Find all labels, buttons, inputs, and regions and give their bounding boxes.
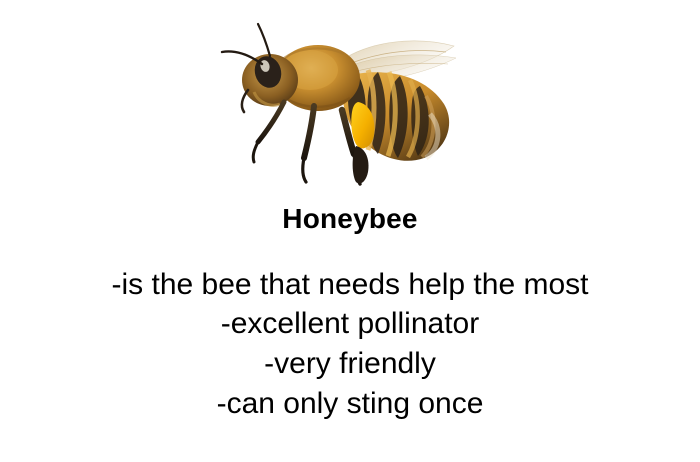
- list-item: -very friendly: [0, 344, 700, 384]
- honeybee-photo: [218, 18, 476, 196]
- list-item: -is the bee that needs help the most: [0, 265, 700, 305]
- list-item: -excellent pollinator: [0, 304, 700, 344]
- page-title: Honeybee: [0, 204, 700, 235]
- fact-list: -is the bee that needs help the most -ex…: [0, 265, 700, 423]
- slide-canvas: Honeybee -is the bee that needs help the…: [0, 0, 700, 462]
- list-item: -can only sting once: [0, 384, 700, 424]
- caption-block: Honeybee -is the bee that needs help the…: [0, 204, 700, 423]
